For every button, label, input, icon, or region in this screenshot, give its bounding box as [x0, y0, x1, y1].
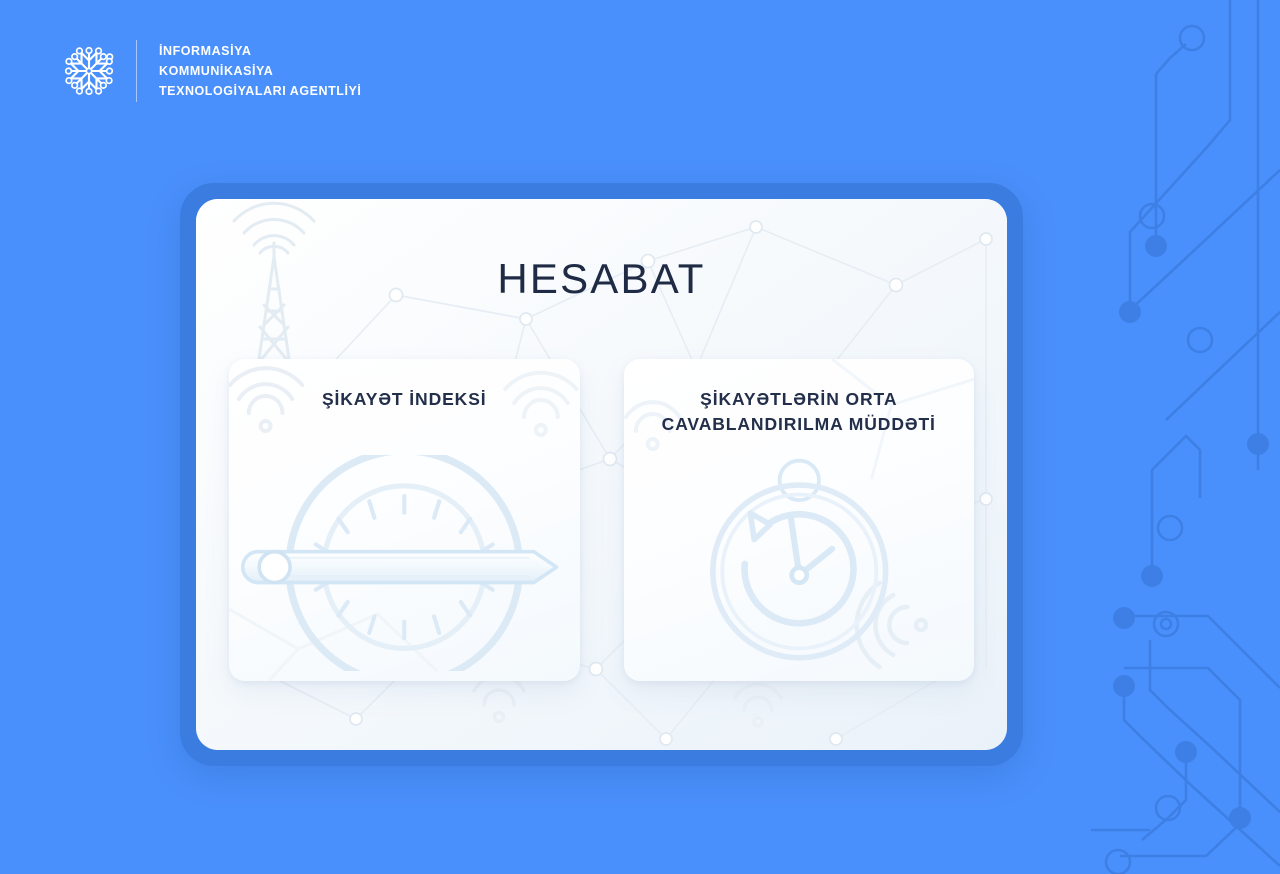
- metric-card-complaint-index[interactable]: ŞİKAYƏT İNDEKSİ: [229, 359, 580, 681]
- gauge-dial-slider-icon: [229, 455, 580, 671]
- metric-card-row: ŞİKAYƏT İNDEKSİ: [229, 359, 974, 681]
- metric-card-title-line-1: ŞİKAYƏTLƏRİN ORTA: [638, 387, 961, 412]
- brand-line-1: İNFORMASİYA: [159, 43, 361, 59]
- metric-card-title: ŞİKAYƏTLƏRİN ORTA CAVABLANDIRILMA MÜDDƏT…: [624, 387, 975, 437]
- circuit-board-traces-icon: [1090, 0, 1280, 874]
- report-banner: İNFORMASİYA KOMMUNİKASİYA TEXNOLOGİYALAR…: [0, 0, 1280, 874]
- brand-name: İNFORMASİYA KOMMUNİKASİYA TEXNOLOGİYALAR…: [159, 43, 361, 99]
- brand-line-2: KOMMUNİKASİYA: [159, 63, 361, 79]
- page-title: HESABAT: [196, 255, 1007, 303]
- brand-divider: [136, 40, 137, 102]
- metric-card-average-response-time[interactable]: ŞİKAYƏTLƏRİN ORTA CAVABLANDIRILMA MÜDDƏT…: [624, 359, 975, 681]
- brand-line-3: TEXNOLOGİYALARI AGENTLİYİ: [159, 83, 361, 99]
- brand-lockup: İNFORMASİYA KOMMUNİKASİYA TEXNOLOGİYALAR…: [56, 38, 361, 104]
- report-frame: HESABAT: [180, 183, 1023, 766]
- report-panel: HESABAT: [196, 199, 1007, 750]
- metric-card-title: ŞİKAYƏT İNDEKSİ: [229, 387, 580, 412]
- network-snowflake-logo-icon: [56, 38, 122, 104]
- metric-card-title-line-2: CAVABLANDIRILMA MÜDDƏTİ: [638, 412, 961, 437]
- stopwatch-refresh-clock-icon: [624, 455, 975, 671]
